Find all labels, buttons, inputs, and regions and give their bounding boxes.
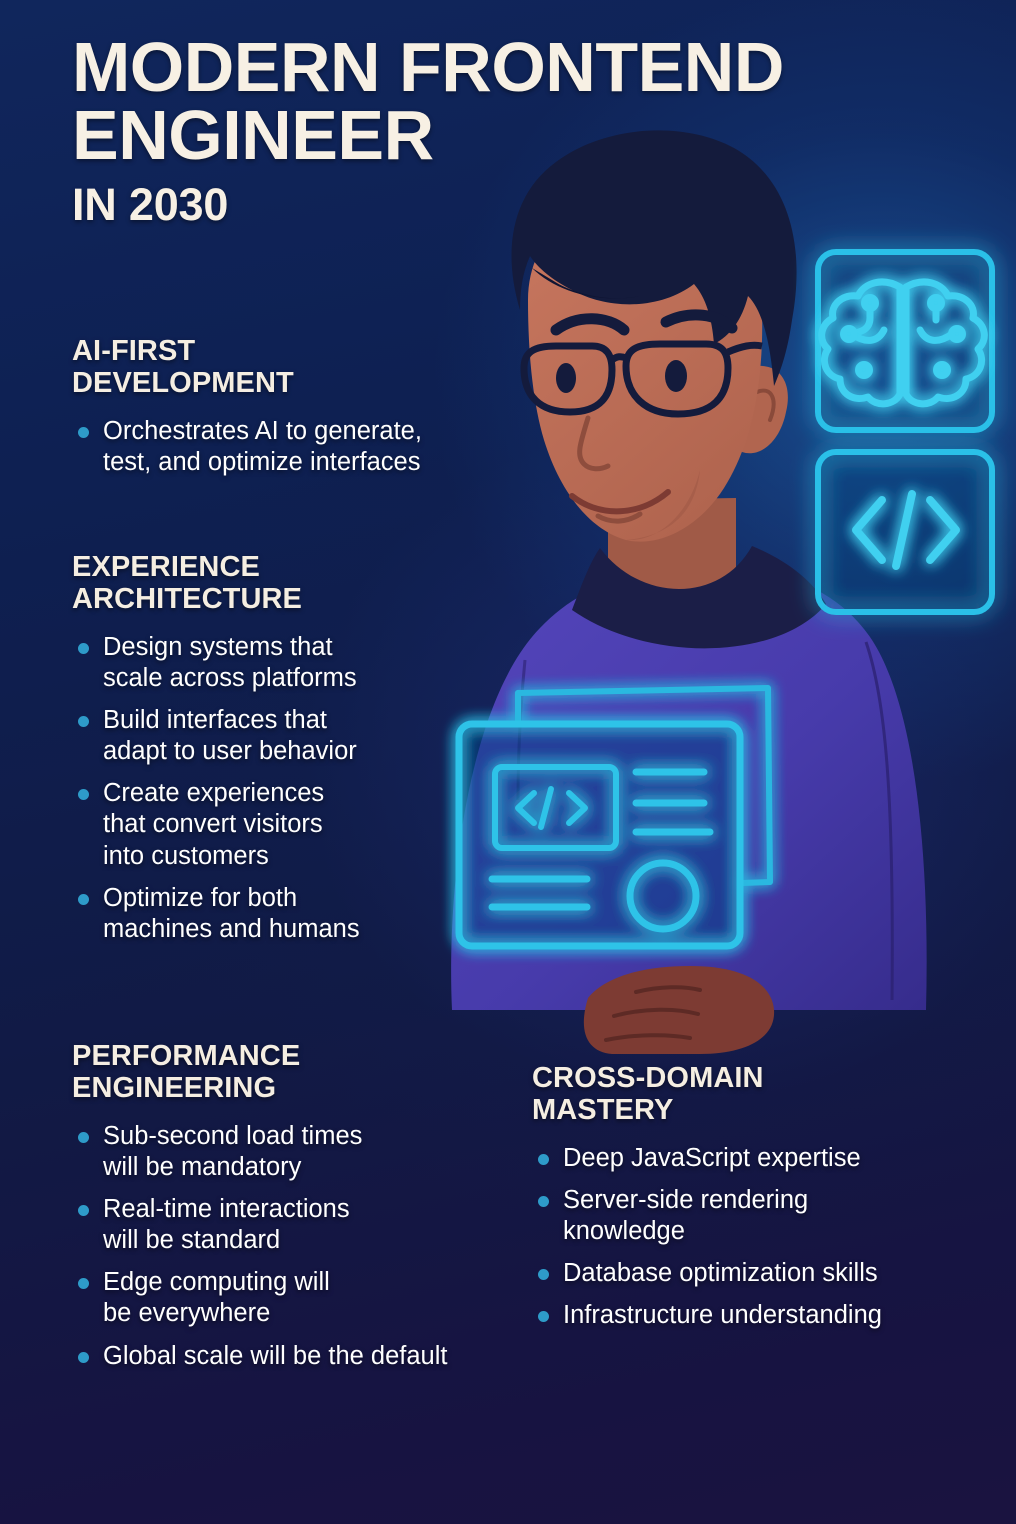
section-heading: PERFORMANCE ENGINEERING <box>72 1040 534 1105</box>
section-bullet-list: Deep JavaScript expertise Server-side re… <box>532 1143 972 1332</box>
list-item: Global scale will be the default <box>72 1341 534 1372</box>
list-item: Edge computing will be everywhere <box>72 1267 534 1329</box>
section-experience-architecture: EXPERIENCE ARCHITECTURE Design systems t… <box>72 551 502 956</box>
page-title: MODERN FRONTEND ENGINEER IN 2030 <box>72 34 952 231</box>
title-line-2: ENGINEER <box>72 102 952 170</box>
list-item: Server-side rendering knowledge <box>532 1185 972 1247</box>
title-line-1: MODERN FRONTEND <box>72 34 952 102</box>
section-cross-domain-mastery: CROSS-DOMAIN MASTERY Deep JavaScript exp… <box>532 1062 972 1342</box>
section-ai-first-development: AI-FIRST DEVELOPMENT Orchestrates AI to … <box>72 335 502 489</box>
list-item: Create experiences that convert visitors… <box>72 778 502 871</box>
text-layer: MODERN FRONTEND ENGINEER IN 2030 AI-FIRS… <box>0 0 1016 1524</box>
section-heading: AI-FIRST DEVELOPMENT <box>72 335 502 400</box>
title-subtitle: IN 2030 <box>72 179 952 231</box>
section-bullet-list: Orchestrates AI to generate, test, and o… <box>72 416 502 478</box>
list-item: Optimize for both machines and humans <box>72 883 502 945</box>
list-item: Database optimization skills <box>532 1258 972 1289</box>
infographic-poster: MODERN FRONTEND ENGINEER IN 2030 AI-FIRS… <box>0 0 1016 1524</box>
list-item: Deep JavaScript expertise <box>532 1143 972 1174</box>
list-item: Design systems that scale across platfor… <box>72 632 502 694</box>
section-heading: EXPERIENCE ARCHITECTURE <box>72 551 502 616</box>
section-bullet-list: Sub-second load times will be mandatory … <box>72 1121 534 1372</box>
section-heading: CROSS-DOMAIN MASTERY <box>532 1062 972 1127</box>
list-item: Infrastructure understanding <box>532 1300 972 1331</box>
section-bullet-list: Design systems that scale across platfor… <box>72 632 502 945</box>
list-item: Build interfaces that adapt to user beha… <box>72 705 502 767</box>
list-item: Real-time interactions will be standard <box>72 1194 534 1256</box>
section-performance-engineering: PERFORMANCE ENGINEERING Sub-second load … <box>72 1040 534 1383</box>
list-item: Sub-second load times will be mandatory <box>72 1121 534 1183</box>
list-item: Orchestrates AI to generate, test, and o… <box>72 416 502 478</box>
